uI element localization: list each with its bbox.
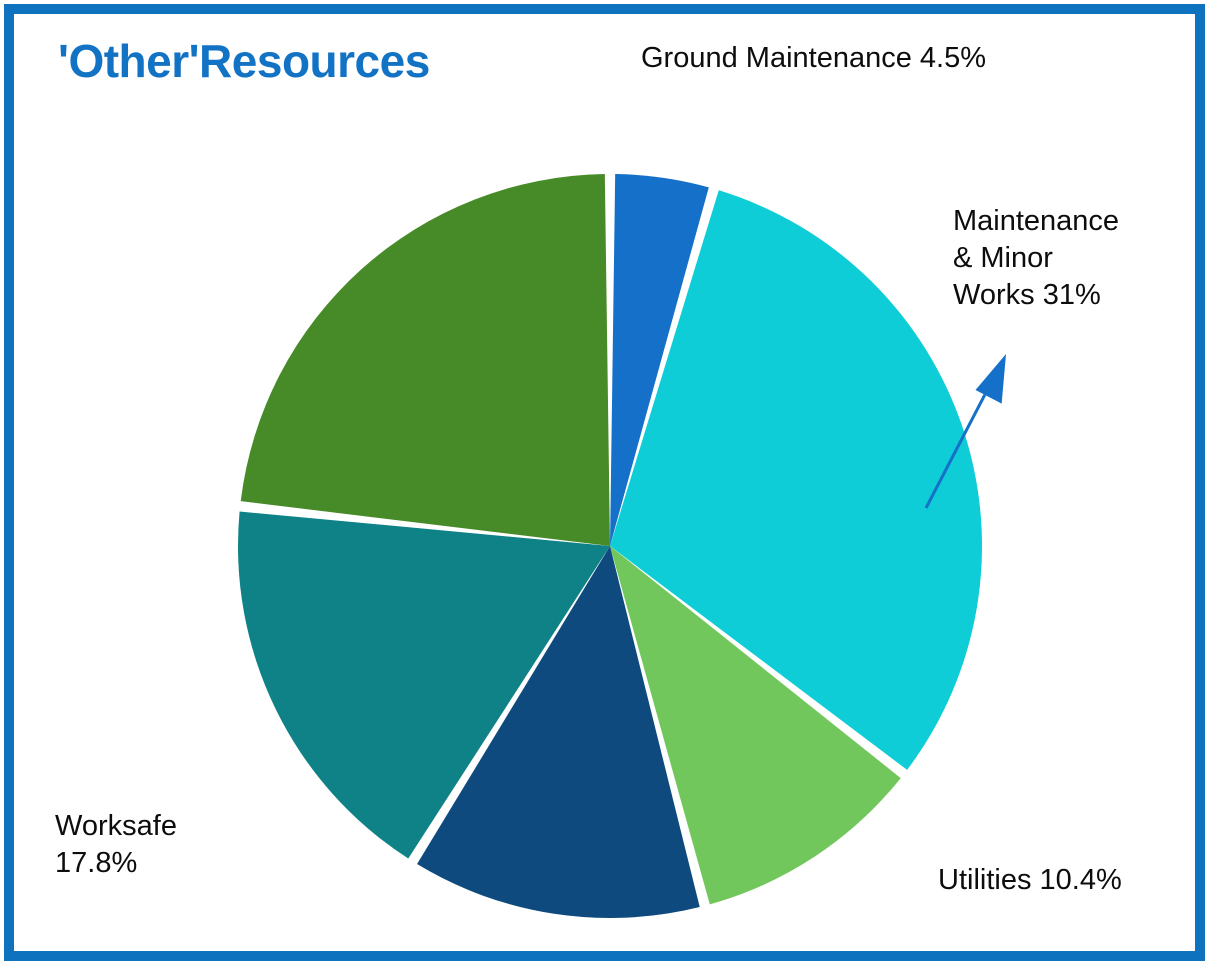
slice-label-worksafe: Worksafe 17.8% bbox=[55, 808, 177, 882]
slice-label-ground-maintenance: Ground Maintenance 4.5% bbox=[641, 40, 986, 77]
pie-slice[interactable] bbox=[241, 174, 610, 546]
pie-slice-group bbox=[238, 174, 982, 918]
callout-arrow-head bbox=[976, 354, 1006, 404]
chart-root: 'Other'Resources Ground Maintenance 4.5%… bbox=[0, 0, 1219, 975]
slice-label-maintenance-minor-works: Maintenance & Minor Works 31% bbox=[953, 203, 1119, 314]
page-title: 'Other'Resources bbox=[58, 34, 430, 88]
pie-chart bbox=[0, 0, 1219, 975]
slice-label-utilities: Utilities 10.4% bbox=[938, 862, 1122, 899]
